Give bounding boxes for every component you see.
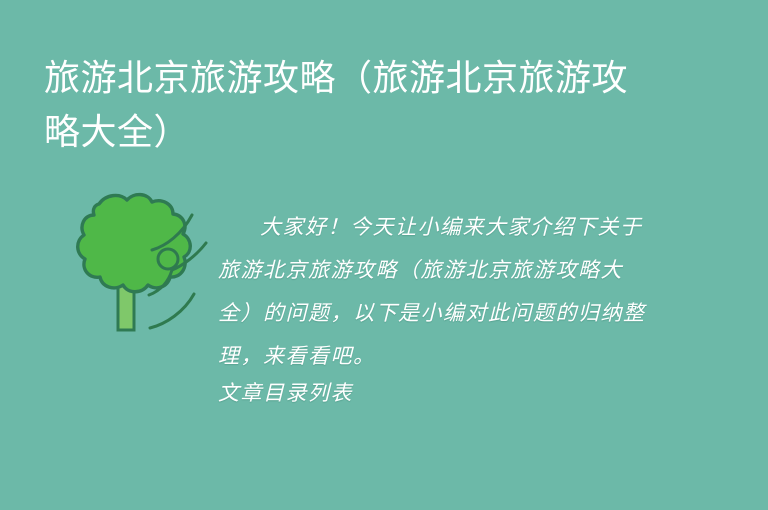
page-title: 旅游北京旅游攻略（旅游北京旅游攻略大全） xyxy=(44,52,644,160)
wind-line-bottom-icon xyxy=(150,294,194,328)
tree-illustration-svg xyxy=(36,188,222,333)
body-content: 大家好！今天让小编来大家介绍下关于旅游北京旅游攻略（旅游北京旅游攻略大全）的问题… xyxy=(218,206,650,408)
tree-crown-icon xyxy=(78,195,191,292)
poster-canvas: 旅游北京旅游攻略（旅游北京旅游攻略大全） 大家好！今天让小编来大家介绍下关于旅游… xyxy=(0,0,768,510)
intro-paragraph: 大家好！今天让小编来大家介绍下关于旅游北京旅游攻略（旅游北京旅游攻略大全）的问题… xyxy=(218,206,650,378)
tree-illustration xyxy=(36,188,222,333)
title-block: 旅游北京旅游攻略（旅游北京旅游攻略大全） xyxy=(44,52,644,160)
toc-heading: 文章目录列表 xyxy=(218,378,650,408)
